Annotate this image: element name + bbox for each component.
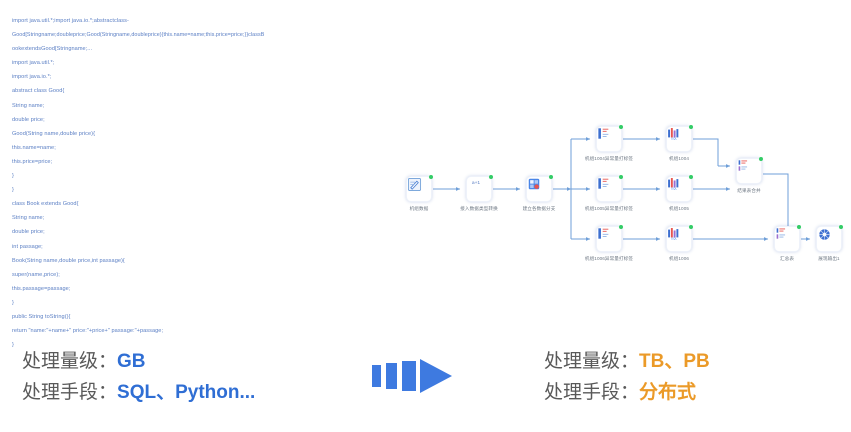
filter-icon bbox=[597, 127, 621, 151]
code-line: class Book extends Good{ bbox=[12, 197, 362, 211]
data-pipeline-flowchart: 机组数据 a+1 接入数据类型转换 建立各数据分支 bbox=[396, 118, 844, 263]
code-line: } bbox=[12, 183, 362, 197]
fast-forward-arrow bbox=[370, 356, 462, 396]
spec-key: 处理手段： bbox=[544, 382, 639, 403]
flow-label-output: 展现输出1 bbox=[818, 256, 839, 262]
code-line: } bbox=[12, 296, 362, 310]
code-line: Good(String name,double price){ bbox=[12, 127, 362, 141]
flow-label-convert: 接入数据类型转换 bbox=[460, 206, 498, 212]
code-line: this.name=name; bbox=[12, 141, 362, 155]
code-line: int passage; bbox=[12, 240, 362, 254]
code-line: import java.util.*; bbox=[12, 56, 362, 70]
spec-key: 处理量级： bbox=[544, 351, 639, 372]
spec-value: SQL、Python... bbox=[117, 382, 255, 403]
flow-node-filter-1006[interactable] bbox=[596, 226, 622, 252]
svg-text:SQL: SQL bbox=[671, 187, 677, 190]
spec-row: 处理量级：GB bbox=[22, 346, 255, 377]
flow-label-branch: 建立各数据分支 bbox=[523, 206, 556, 212]
code-line: abstract class Good{ bbox=[12, 84, 362, 98]
flow-label-sql-1004: 机组1004 bbox=[669, 156, 689, 162]
flow-label-filter-1006: 机组1006异常量打标签 bbox=[585, 256, 633, 262]
spec-row: 处理量级：TB、PB bbox=[544, 346, 710, 377]
code-line: return "name:"+name+" price:"+price+" pa… bbox=[12, 324, 362, 338]
flow-node-branch[interactable] bbox=[526, 176, 552, 202]
dashboard-icon bbox=[817, 227, 841, 251]
sql-icon: SQL bbox=[667, 227, 691, 251]
merge-table-icon bbox=[737, 159, 761, 183]
spec-value: GB bbox=[117, 351, 146, 372]
code-line: ookextendsGood[Stringname;... bbox=[12, 42, 362, 56]
flow-node-source[interactable] bbox=[406, 176, 432, 202]
code-line: this.passage=passage; bbox=[12, 282, 362, 296]
flow-node-filter-1004[interactable] bbox=[596, 126, 622, 152]
flow-node-convert[interactable]: a+1 bbox=[466, 176, 492, 202]
spec-row: 处理手段：SQL、Python... bbox=[22, 377, 255, 408]
flow-label-sql-1006: 机组1006 bbox=[669, 256, 689, 262]
code-line: super(name,price); bbox=[12, 268, 362, 282]
code-line: Book(String name,double price,int passag… bbox=[12, 254, 362, 268]
code-line: double price; bbox=[12, 113, 362, 127]
svg-text:SQL: SQL bbox=[671, 137, 677, 140]
java-code-snippet: import java.util.*;import java.io.*;abst… bbox=[12, 14, 362, 352]
flow-node-filter-1005[interactable] bbox=[596, 176, 622, 202]
flow-label-filter-1005: 机组1005异常量打标签 bbox=[585, 206, 633, 212]
flow-node-sql-1006[interactable]: SQL bbox=[666, 226, 692, 252]
spec-key: 处理手段： bbox=[22, 382, 117, 403]
flow-label-summary: 汇总表 bbox=[780, 256, 794, 262]
flow-label-source: 机组数据 bbox=[410, 206, 429, 212]
svg-text:a+1: a+1 bbox=[472, 180, 481, 186]
filter-icon bbox=[597, 177, 621, 201]
flow-node-merge[interactable] bbox=[736, 158, 762, 184]
code-line: public String toString(){ bbox=[12, 310, 362, 324]
edit-table-icon bbox=[407, 177, 431, 201]
formula-icon: a+1 bbox=[467, 177, 491, 201]
flow-label-merge: 结果表合并 bbox=[737, 188, 760, 194]
svg-text:SQL: SQL bbox=[671, 237, 677, 240]
spec-row: 处理手段：分布式 bbox=[544, 377, 710, 408]
database-icon bbox=[527, 177, 551, 201]
code-line: Good[Stringname;doubleprice;Good(Stringn… bbox=[12, 28, 362, 42]
flow-node-sql-1004[interactable]: SQL bbox=[666, 126, 692, 152]
spec-key: 处理量级： bbox=[22, 351, 117, 372]
code-line: String name; bbox=[12, 99, 362, 113]
big-scale-spec: 处理量级：TB、PB 处理手段：分布式 bbox=[544, 346, 710, 408]
filter-icon bbox=[597, 227, 621, 251]
flow-node-sql-1005[interactable]: SQL bbox=[666, 176, 692, 202]
flow-label-sql-1005: 机组1005 bbox=[669, 206, 689, 212]
code-line: this.price=price; bbox=[12, 155, 362, 169]
spec-value: 分布式 bbox=[639, 382, 696, 403]
code-line: double price; bbox=[12, 225, 362, 239]
sql-icon: SQL bbox=[667, 177, 691, 201]
code-line: import java.util.*;import java.io.*;abst… bbox=[12, 14, 362, 28]
flow-node-output[interactable] bbox=[816, 226, 842, 252]
flow-label-filter-1004: 机组1004异常量打标签 bbox=[585, 156, 633, 162]
merge-table-icon bbox=[775, 227, 799, 251]
flow-node-summary[interactable] bbox=[774, 226, 800, 252]
spec-value: TB、PB bbox=[639, 351, 710, 372]
small-scale-spec: 处理量级：GB 处理手段：SQL、Python... bbox=[22, 346, 255, 408]
code-line: } bbox=[12, 169, 362, 183]
code-line: String name; bbox=[12, 211, 362, 225]
code-line: import java.io.*; bbox=[12, 70, 362, 84]
sql-icon: SQL bbox=[667, 127, 691, 151]
